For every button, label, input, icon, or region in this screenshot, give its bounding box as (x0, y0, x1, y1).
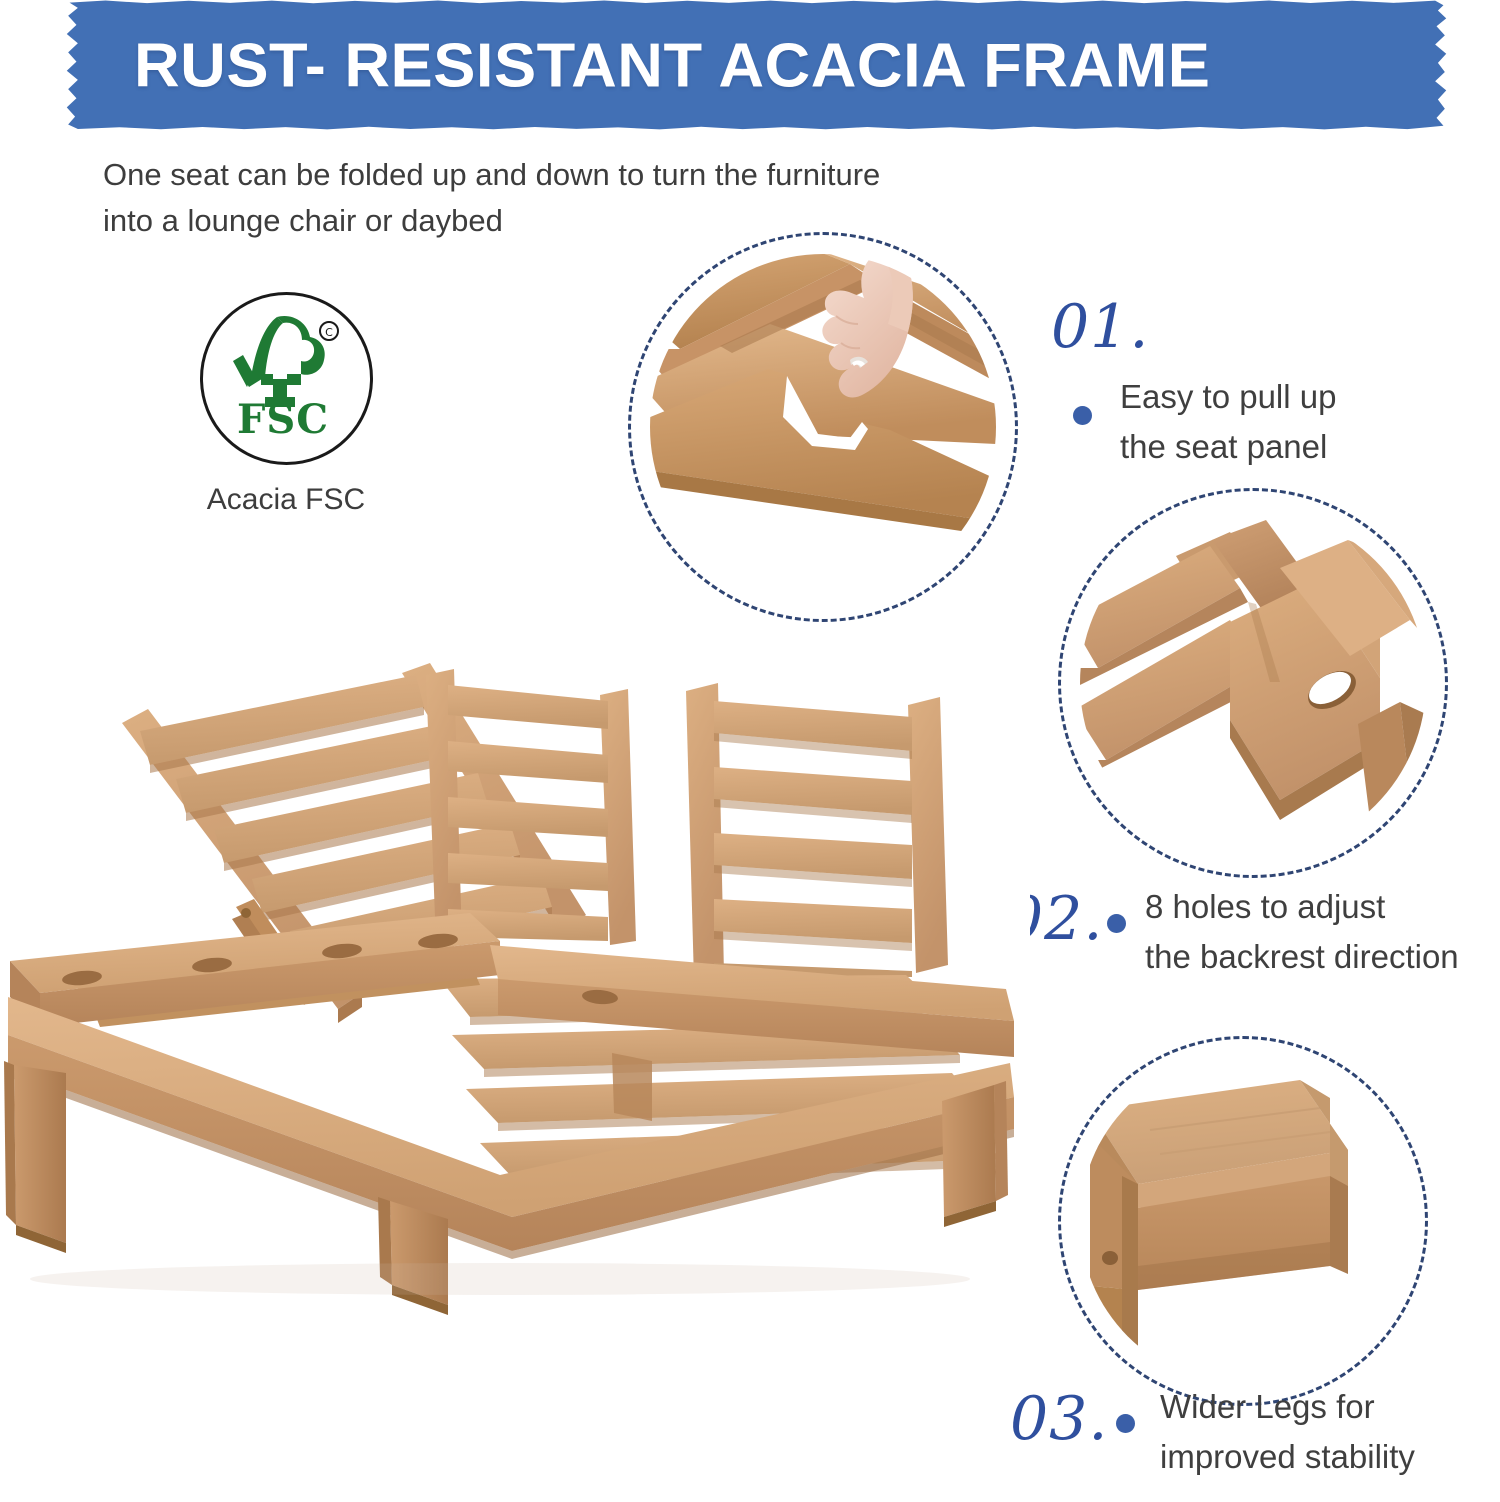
callout-3-line-2: improved stability (1160, 1432, 1415, 1482)
acacia-wood-daybed-lounge-chair-photo (0, 645, 1030, 1325)
callout-2-line-2: the backrest direction (1145, 932, 1459, 982)
callout-3-number: 03. (1010, 1384, 1108, 1454)
hand-lifting-seat-panel-photo (650, 254, 996, 600)
callout-3-line-1: Wider Legs for (1160, 1382, 1415, 1432)
fsc-tree-checkmark-icon: FSC C (200, 292, 373, 465)
subtitle-line-1: One seat can be folded up and down to tu… (103, 152, 1093, 198)
subtitle-line-2: into a lounge chair or daybed (103, 198, 1093, 244)
svg-text:C: C (325, 326, 333, 339)
wide-wooden-leg-photo (1080, 1058, 1406, 1384)
callout-1-line-2: the seat panel (1120, 422, 1336, 472)
callout-1: 01. Easy to pull up the seat panel (1045, 296, 1465, 476)
fsc-certification-badge: FSC C Acacia FSC (186, 292, 386, 517)
callout-3-bullet (1116, 1414, 1135, 1433)
fsc-label: Acacia FSC (186, 483, 386, 517)
callout-photo-2 (1058, 488, 1448, 878)
callout-3: 03. Wider Legs for improved stability (1010, 1382, 1500, 1502)
header-banner: RUST- RESISTANT ACACIA FRAME (64, 0, 1449, 131)
callout-2-line-1: 8 holes to adjust (1145, 882, 1459, 932)
callout-photo-1 (628, 232, 1018, 622)
callout-2: 02. 8 holes to adjust the backrest direc… (1005, 878, 1495, 1008)
page-title: RUST- RESISTANT ACACIA FRAME (134, 30, 1210, 101)
callout-1-text: Easy to pull up the seat panel (1120, 372, 1336, 472)
callout-2-bullet (1107, 914, 1126, 933)
callout-1-line-1: Easy to pull up (1120, 372, 1336, 422)
callout-3-text: Wider Legs for improved stability (1160, 1382, 1415, 1482)
frame-rail-adjustment-hole-photo (1080, 510, 1426, 856)
subtitle: One seat can be folded up and down to tu… (103, 152, 1093, 244)
callout-photo-3 (1058, 1036, 1428, 1406)
callout-1-bullet (1073, 406, 1092, 425)
svg-text:FSC: FSC (236, 396, 328, 443)
callout-2-text: 8 holes to adjust the backrest direction (1145, 882, 1459, 982)
callout-1-number: 01. (1051, 292, 1149, 362)
